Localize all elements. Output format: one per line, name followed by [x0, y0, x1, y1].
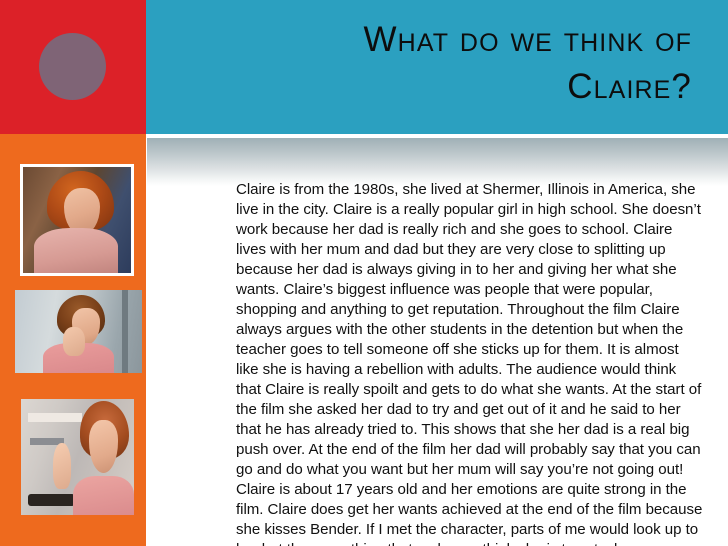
header-red-block	[0, 0, 146, 134]
claire-portrait-photo	[20, 164, 134, 276]
header-gradient-divider	[147, 138, 728, 186]
photo-background-bar	[122, 290, 128, 373]
page-title: What do we think of Claire?	[146, 0, 728, 134]
claire-pointing-photo	[21, 399, 134, 515]
photo-background-dark-block	[28, 494, 75, 506]
photo-background-shelf	[28, 413, 82, 422]
claire-hand-to-mouth-photo-content	[15, 290, 142, 373]
photo-hand-shape	[53, 443, 71, 489]
photo-body-shape	[73, 476, 134, 515]
claire-hand-to-mouth-photo	[15, 290, 142, 373]
body-paragraph: Claire is from the 1980s, she lived at S…	[236, 180, 704, 546]
photo-body-shape	[34, 228, 118, 275]
header-teal-banner: What do we think of Claire?	[146, 0, 728, 134]
claire-pointing-photo-content	[21, 399, 134, 515]
photo-hand-shape	[63, 327, 85, 357]
slide: What do we think of Claire?	[0, 0, 728, 546]
page-title-line-2: Claire?	[186, 63, 692, 110]
page-title-line-1: What do we think of	[186, 16, 692, 63]
circle-decoration-icon	[39, 33, 106, 100]
claire-portrait-photo-content	[23, 167, 131, 273]
